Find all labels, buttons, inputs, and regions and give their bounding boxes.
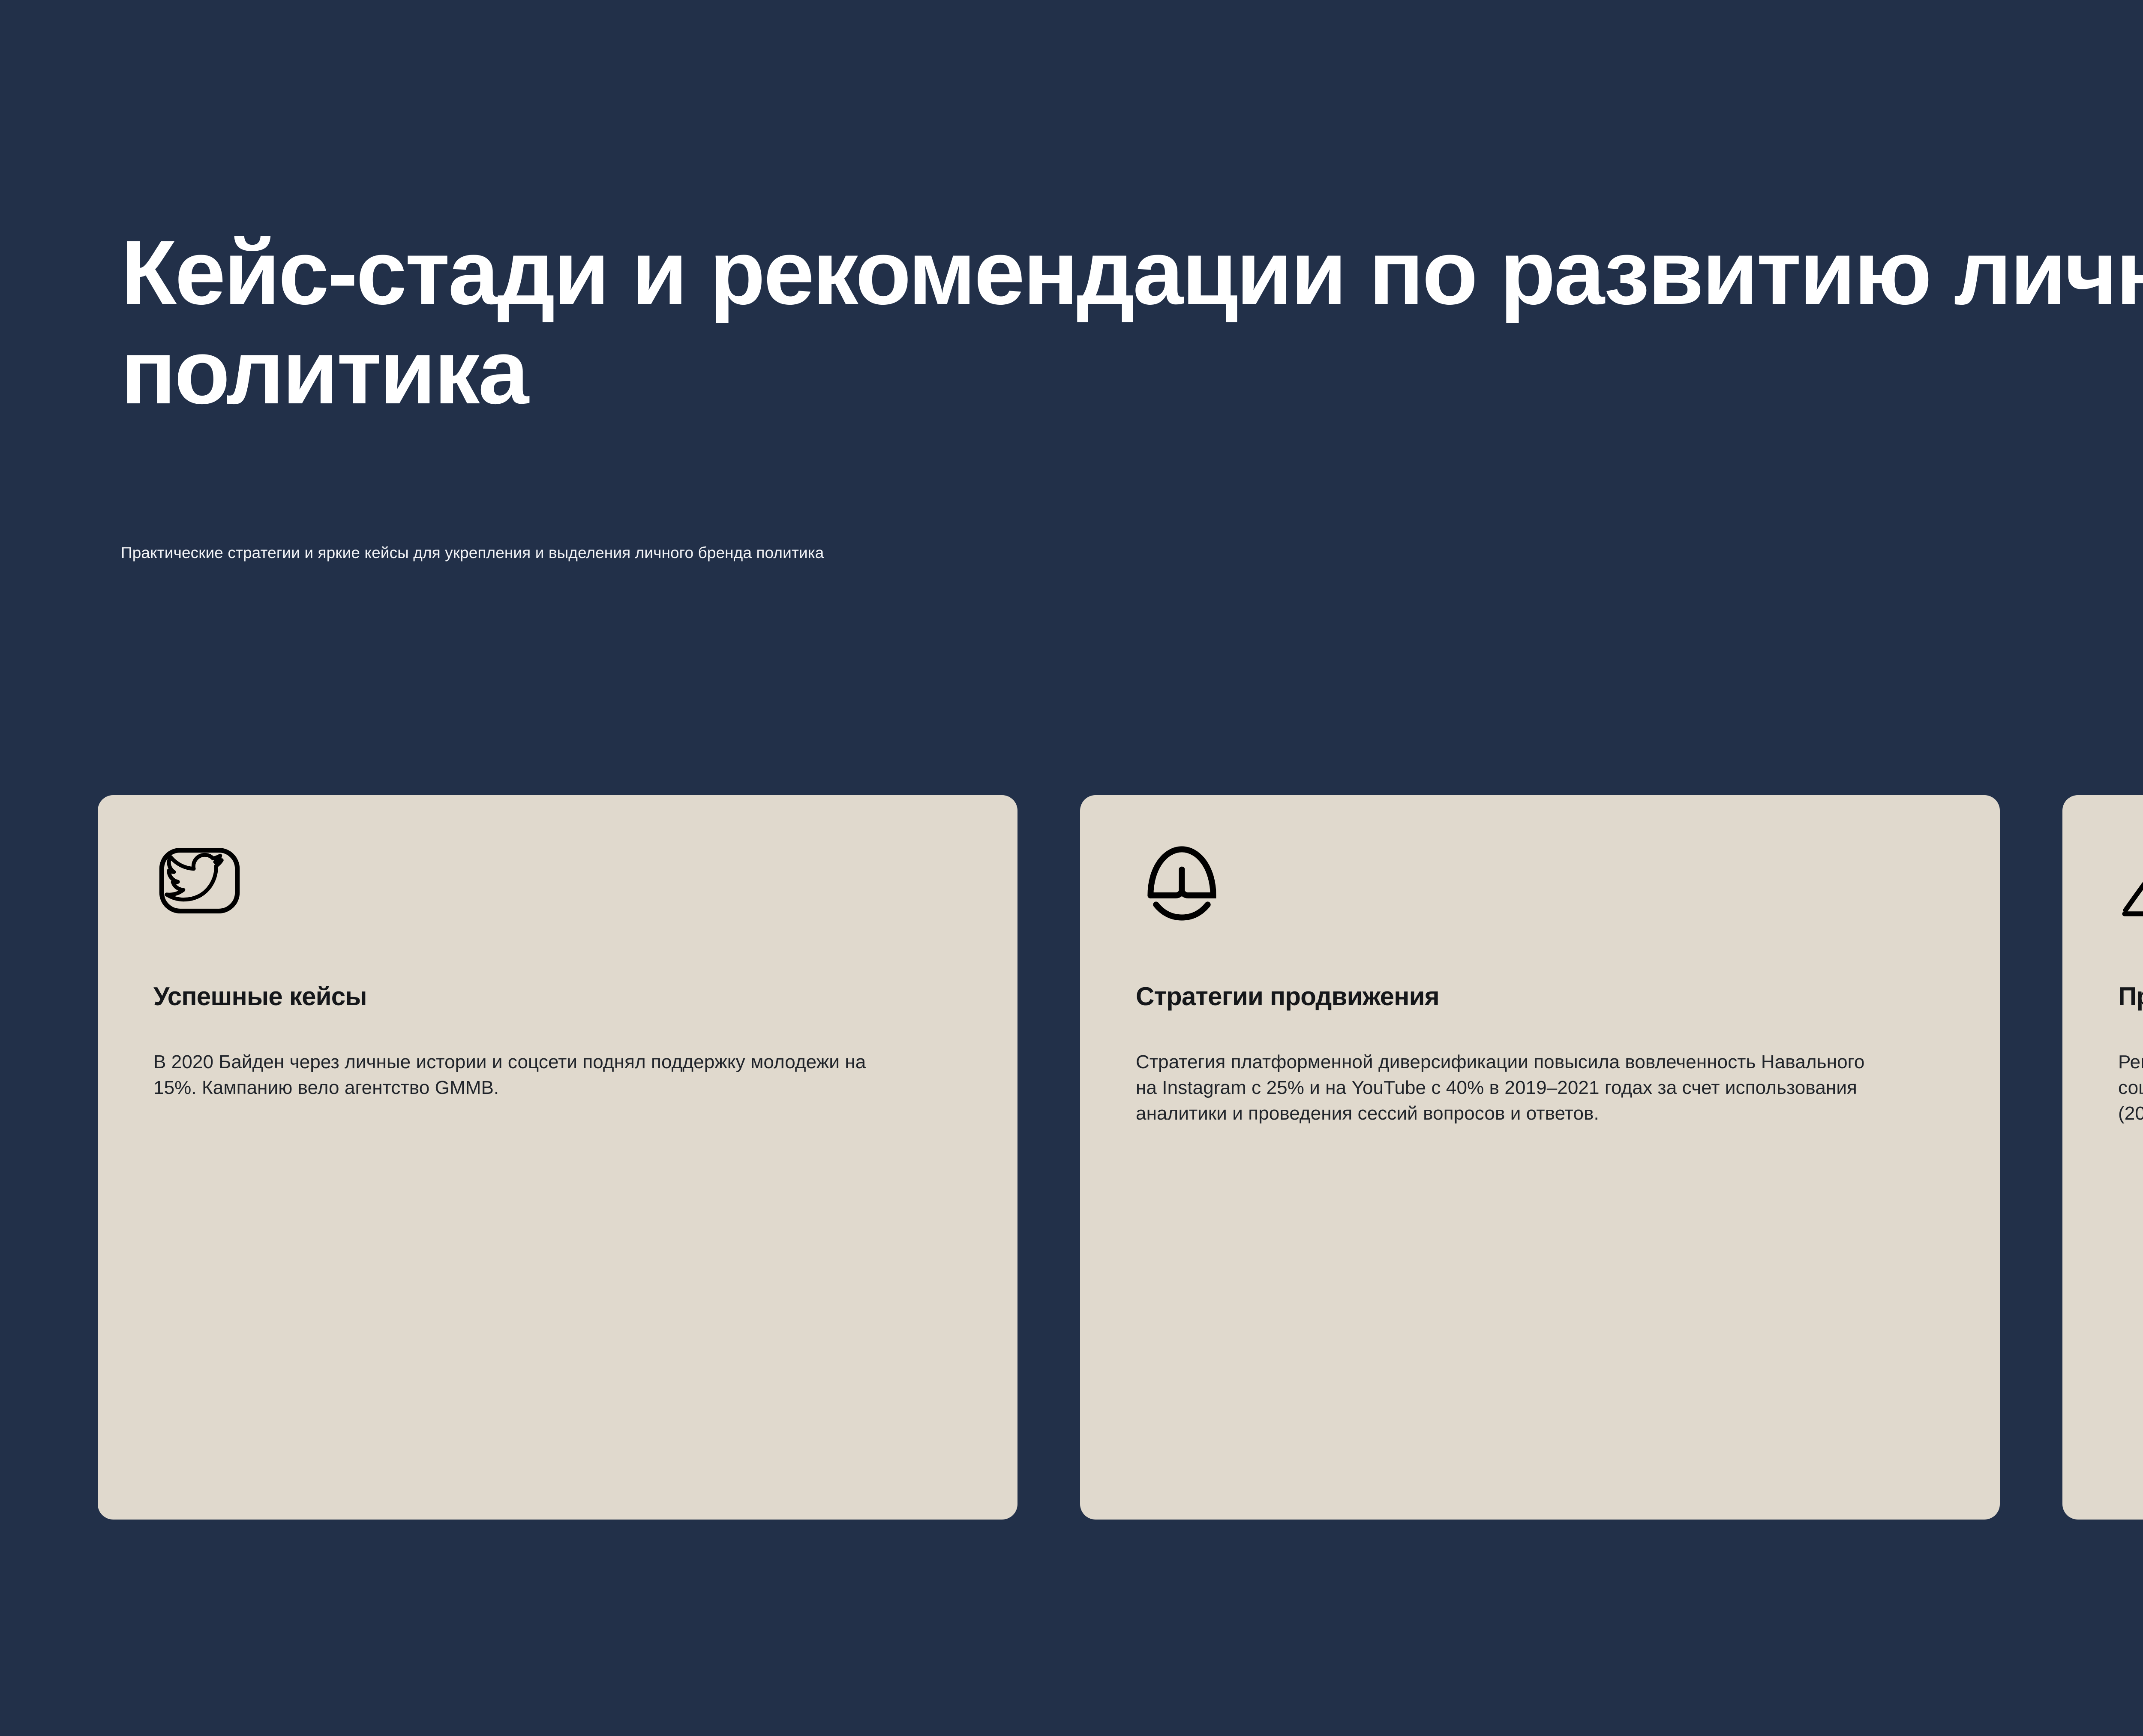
card-promotion-strategies[interactable]: Стратегии продвижения Стратегия платформ… [1080,795,2000,1520]
card-title: Стратегии продвижения [1136,982,1944,1012]
page-subtitle: Практические стратегии и яркие кейсы для… [121,542,824,564]
card-body: Стратегия платформенной диверсификации п… [1136,1049,1877,1126]
slide-header: Кейс-стади и рекомендации по развитию ли… [121,223,2143,422]
card-practical-recommendations[interactable]: Практические рекомендации Рекомендация —… [2062,795,2143,1520]
card-body: Рекомендация — использовать 4D-брендинг:… [2118,1049,2143,1126]
page-title: Кейс-стади и рекомендации по развитию ли… [121,223,2143,422]
card-title: Практические рекомендации [2118,982,2143,1012]
card-successful-cases[interactable]: Успешные кейсы В 2020 Байден через личны… [98,795,1017,1520]
card-row: Успешные кейсы В 2020 Байден через личны… [98,795,2143,1520]
twitter-bird-rounded-square-icon [153,835,246,927]
arch-dome-smile-icon [1136,835,1228,927]
slide-root: Кейс-стади и рекомендации по развитию ли… [0,0,2143,1736]
card-body: В 2020 Байден через личные истории и соц… [153,1049,895,1101]
card-title: Успешные кейсы [153,982,962,1012]
mountain-growth-arrow-icon [2118,835,2143,927]
